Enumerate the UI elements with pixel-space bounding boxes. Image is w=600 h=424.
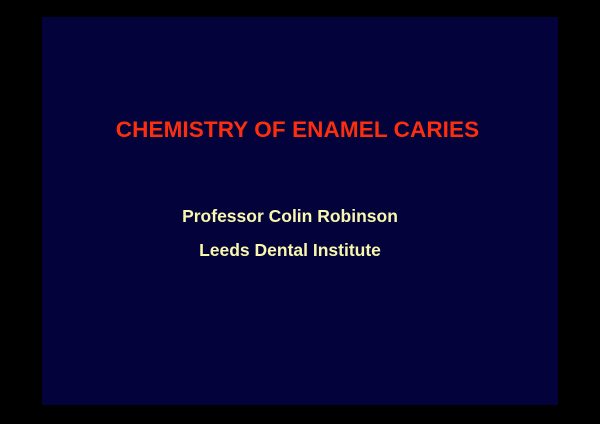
slide-title-block: CHEMISTRY OF ENAMEL CARIES [42, 117, 553, 143]
slide-subtitle-block: Professor Colin Robinson Leeds Dental In… [42, 199, 538, 267]
slide-canvas: CHEMISTRY OF ENAMEL CARIES Professor Col… [42, 17, 558, 405]
slide-content: CHEMISTRY OF ENAMEL CARIES Professor Col… [42, 17, 558, 405]
slide-subtitle-line-institution: Leeds Dental Institute [42, 233, 538, 267]
slide-subtitle-line-presenter: Professor Colin Robinson [42, 199, 538, 233]
slide-title: CHEMISTRY OF ENAMEL CARIES [116, 117, 479, 143]
presentation-page: CHEMISTRY OF ENAMEL CARIES Professor Col… [0, 0, 600, 424]
